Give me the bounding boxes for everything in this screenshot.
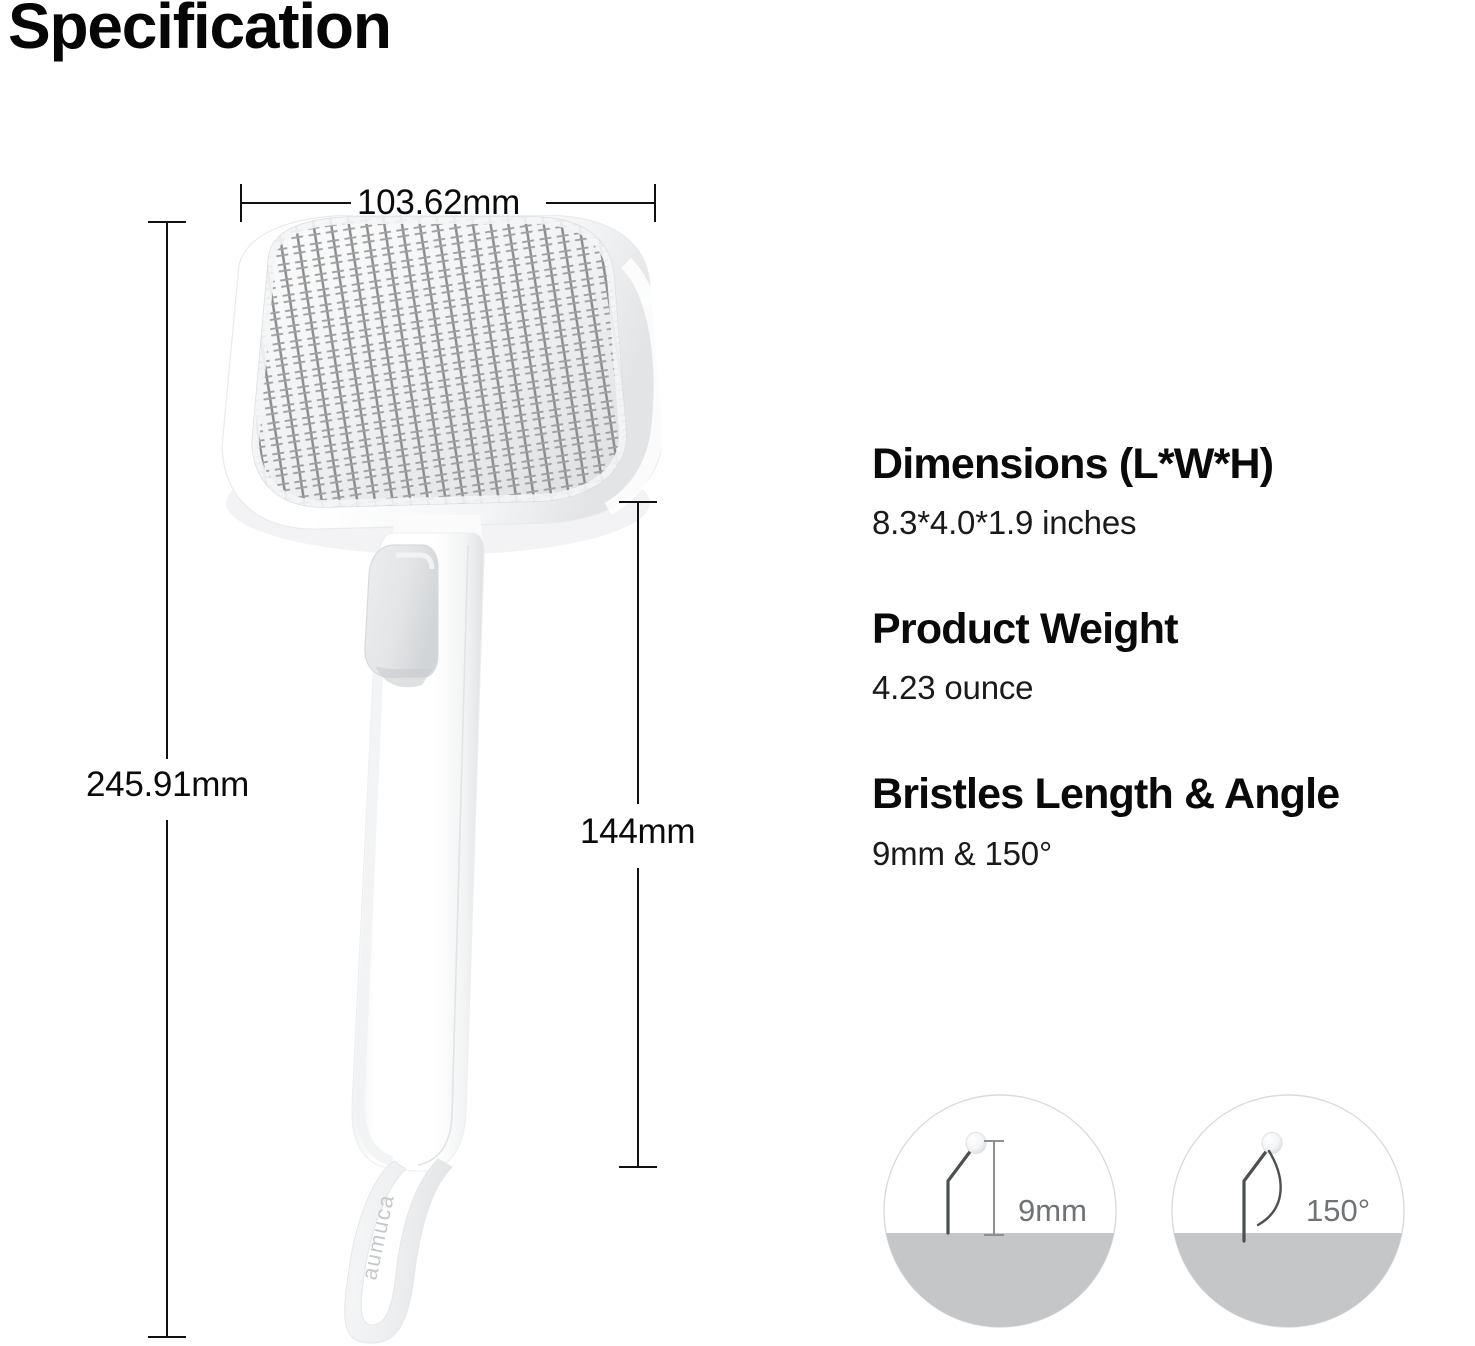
handle-tick-bottom — [619, 1166, 657, 1168]
spec-heading-dimensions: Dimensions (L*W*H) — [872, 440, 1472, 489]
width-bar-right — [546, 202, 655, 204]
width-bar-left — [241, 202, 351, 204]
bristle-tip — [966, 1133, 986, 1154]
brush-head — [222, 215, 662, 529]
spec-item-dimensions: Dimensions (L*W*H) 8.3*4.0*1.9 inches — [872, 440, 1472, 543]
handle-dimension-label: 144mm — [580, 812, 695, 852]
bristle-length-diagram: 9mm — [882, 1093, 1118, 1329]
hanging-loop: aumuca — [345, 1159, 452, 1343]
spec-heading-weight: Product Weight — [872, 605, 1472, 654]
spec-heading-bristles: Bristles Length & Angle — [872, 770, 1472, 819]
spec-value-dimensions: 8.3*4.0*1.9 inches — [872, 503, 1472, 543]
spec-item-bristles: Bristles Length & Angle 9mm & 150° — [872, 770, 1472, 873]
width-dimension-label: 103.62mm — [357, 183, 520, 223]
spec-value-weight: 4.23 ounce — [872, 668, 1472, 708]
self-cleaning-button[interactable] — [365, 545, 438, 687]
bristle-length-label: 9mm — [1018, 1193, 1087, 1228]
spec-item-weight: Product Weight 4.23 ounce — [872, 605, 1472, 708]
product-illustration: aumuca — [180, 215, 700, 1345]
width-tick-right — [654, 184, 656, 222]
base-surface — [1170, 1233, 1406, 1329]
bristle-angle-diagram: 150° — [1170, 1093, 1406, 1329]
bristle-diagrams: 9mm — [882, 1093, 1406, 1329]
bristle-tip — [1262, 1133, 1282, 1154]
handle-bar-bottom — [637, 868, 639, 1167]
page-title: Specification — [8, 0, 391, 60]
base-surface — [882, 1233, 1118, 1329]
bristle-angle-label: 150° — [1306, 1193, 1370, 1228]
spec-value-bristles: 9mm & 150° — [872, 834, 1472, 874]
handle-bar-top — [637, 502, 639, 804]
height-bar-bottom — [166, 820, 168, 1337]
spec-list: Dimensions (L*W*H) 8.3*4.0*1.9 inches Pr… — [872, 440, 1472, 873]
bristle-grid — [252, 215, 646, 525]
height-bar-top — [166, 222, 168, 759]
height-tick-bottom — [148, 1336, 186, 1338]
specification-page: Specification — [0, 0, 1475, 1346]
height-dimension-label: 245.91mm — [86, 765, 249, 805]
